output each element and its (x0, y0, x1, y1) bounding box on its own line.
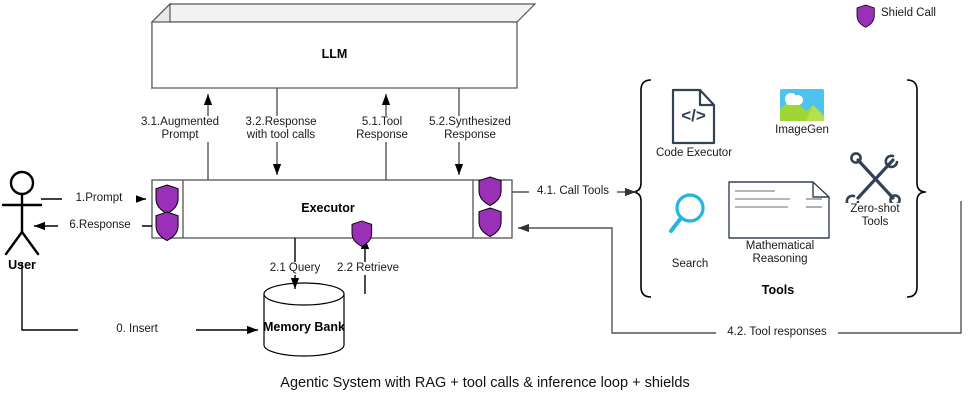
llm-node (152, 4, 535, 88)
edge-label-tool-response: 5.1.Tool Response (349, 116, 415, 142)
edge-label-query: 2.1 Query (262, 262, 328, 275)
edge-label-tool-calls: 3.2.Response with tool calls (238, 116, 324, 142)
edge-label-synthesized: 5.2.Synthesized Response (425, 116, 515, 142)
edge-label-insert: 0. Insert (78, 323, 196, 336)
image-icon (780, 89, 824, 121)
shield-icon-legend (857, 5, 874, 27)
crossed-wrenches-icon (847, 153, 900, 207)
edge-insert (22, 262, 258, 330)
tools-group-label: Tools (728, 283, 828, 297)
tool-label-zero-shot: Zero-shot Tools (840, 203, 910, 229)
tool-label-imagegen: ImageGen (766, 124, 838, 137)
executor-label: Executor (183, 201, 473, 215)
user-label: User (0, 258, 44, 272)
tool-label-math: Mathematical Reasoning (734, 240, 826, 266)
legend-label: Shield Call (881, 7, 936, 19)
memory-bank-label: Memory Bank (254, 320, 354, 334)
diagram-caption: Agentic System with RAG + tool calls & i… (0, 375, 970, 391)
tool-label-search: Search (662, 258, 718, 271)
tools-brace-right (907, 80, 926, 297)
edge-label-tool-responses: 4.2. Tool responses (716, 326, 838, 339)
magnifier-icon (671, 195, 703, 231)
edge-label-call-tools: 4.1. Call Tools (529, 185, 617, 198)
math-document-icon (729, 182, 829, 238)
user-node (3, 172, 41, 254)
code-glyph: </> (673, 106, 714, 126)
edge-label-retrieve: 2.2 Retrieve (330, 262, 406, 275)
edge-label-augmented: 3.1.Augmented Prompt (141, 116, 219, 142)
diagram-canvas (0, 0, 970, 411)
llm-label: LLM (152, 47, 517, 61)
edge-label-prompt: 1.Prompt (62, 192, 136, 205)
edge-label-response: 6.Response (58, 219, 142, 232)
tools-brace-left (632, 80, 651, 297)
shield-icon (352, 221, 372, 246)
tool-label-code-executor: Code Executor (650, 147, 738, 160)
